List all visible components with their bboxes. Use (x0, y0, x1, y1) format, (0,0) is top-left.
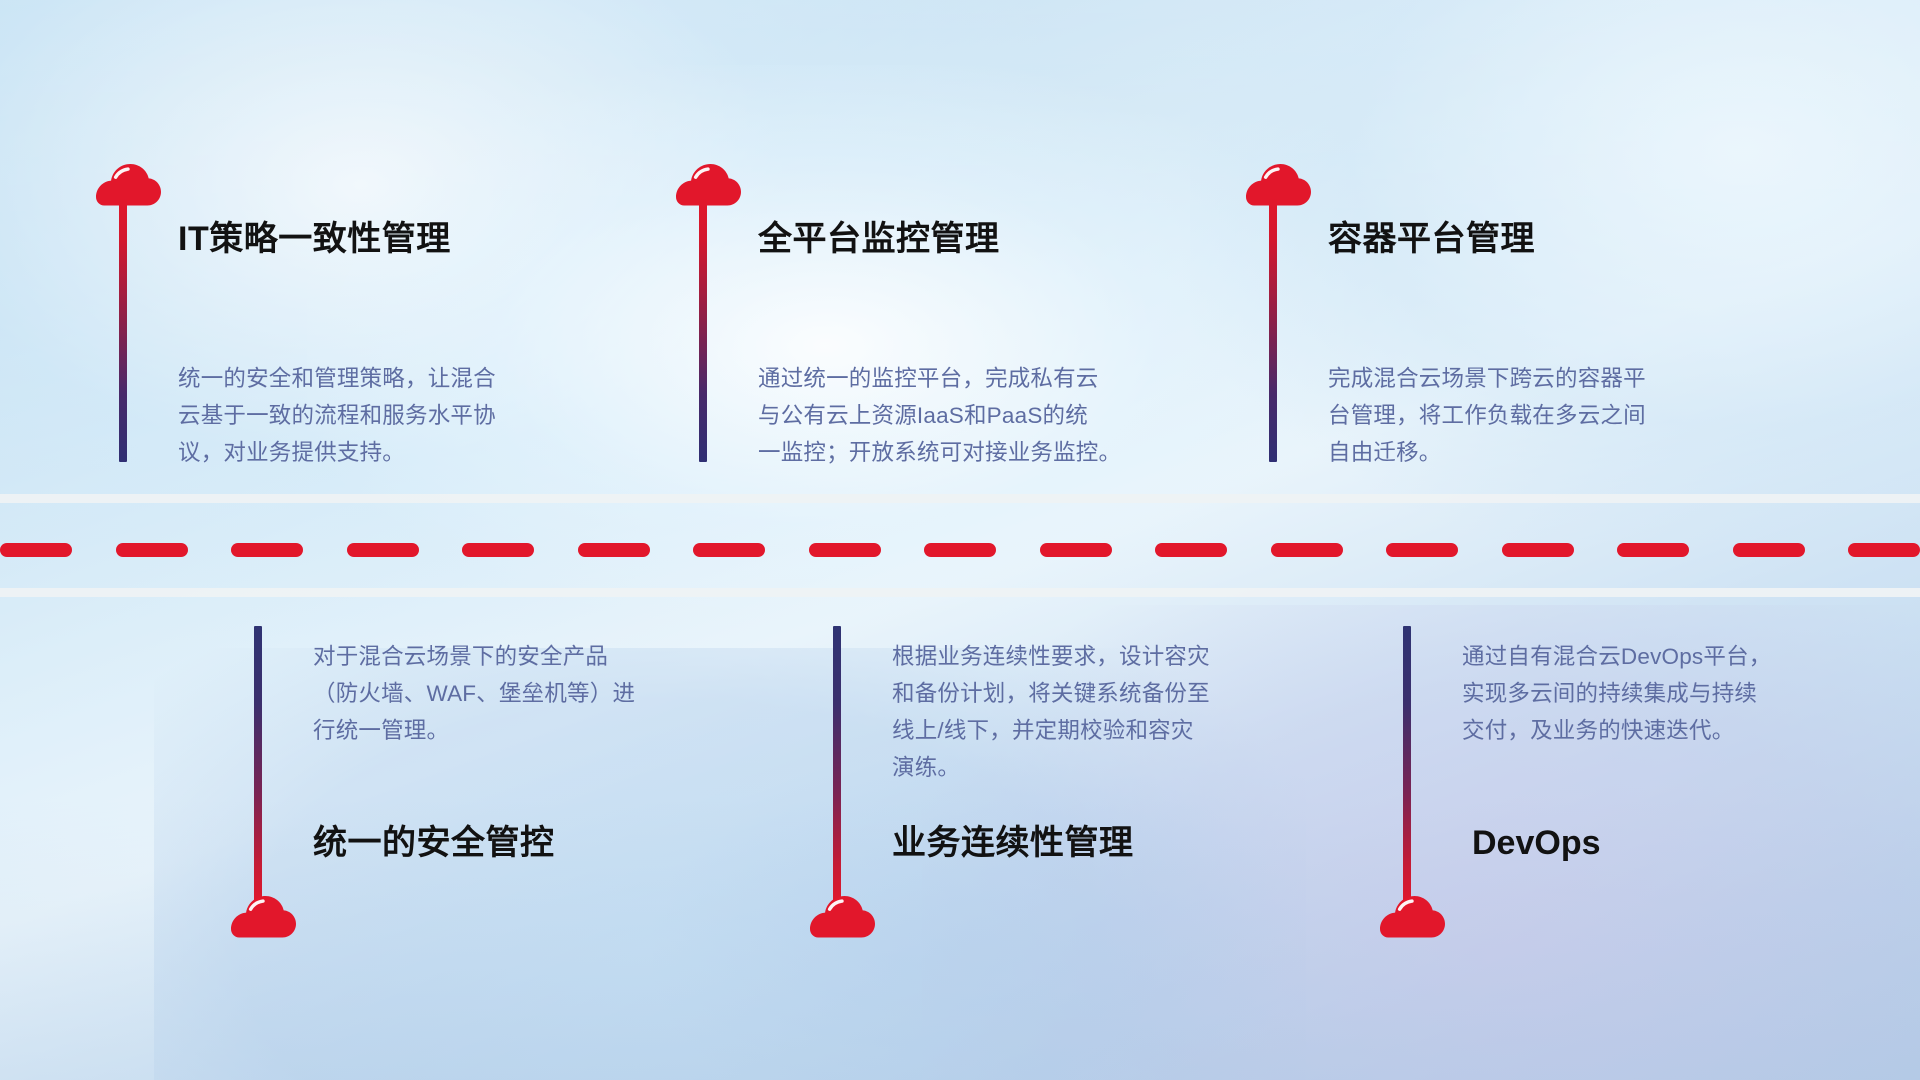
road-dash (693, 543, 765, 557)
road-dash (1848, 543, 1920, 557)
bottom-item-2-body: 根据业务连续性要求，设计容灾 和备份计划，将关键系统备份至 线上/线下，并定期校… (892, 638, 1322, 786)
road-dash (1386, 543, 1458, 557)
cloud-icon (1246, 164, 1312, 206)
road-dash (462, 543, 534, 557)
cloud-icon (96, 164, 162, 206)
connector-stem (254, 626, 262, 906)
road-dash (231, 543, 303, 557)
road-edge-line-bottom (0, 588, 1920, 597)
cloud-icon (676, 164, 742, 206)
cloud-icon (1380, 896, 1446, 938)
road-dash (578, 543, 650, 557)
top-item-1-body: 统一的安全和管理策略，让混合 云基于一致的流程和服务水平协 议，对业务提供支持。 (178, 360, 608, 471)
road-dash (924, 543, 996, 557)
road-dash (1502, 543, 1574, 557)
road-dash (0, 543, 72, 557)
road-dash (809, 543, 881, 557)
road-dash (1040, 543, 1112, 557)
cloud-icon (810, 896, 876, 938)
road-center-dashes (0, 543, 1920, 557)
top-item-3-body: 完成混合云场景下跨云的容器平 台管理，将工作负载在多云之间 自由迁移。 (1328, 360, 1758, 471)
top-item-1-title: IT策略一致性管理 (178, 222, 451, 256)
connector-stem (833, 626, 841, 906)
road-dash (1617, 543, 1689, 557)
top-item-2-body: 通过统一的监控平台，完成私有云 与公有云上资源IaaS和PaaS的统 一监控；开… (758, 360, 1218, 471)
top-item-2-title: 全平台监控管理 (758, 222, 1000, 256)
connector-stem (699, 198, 707, 462)
bottom-item-2-title: 业务连续性管理 (892, 826, 1134, 860)
road-dash (116, 543, 188, 557)
connector-stem (119, 198, 127, 462)
road-edge-line-top (0, 494, 1920, 503)
road-dash (1271, 543, 1343, 557)
top-item-3-title: 容器平台管理 (1328, 222, 1535, 256)
bottom-item-3-body: 通过自有混合云DevOps平台， 实现多云间的持续集成与持续 交付，及业务的快速… (1462, 638, 1892, 749)
cloud-icon (231, 896, 297, 938)
connector-stem (1403, 626, 1411, 906)
connector-stem (1269, 198, 1277, 462)
road-dash (347, 543, 419, 557)
road-dash (1733, 543, 1805, 557)
road-dash (1155, 543, 1227, 557)
bottom-item-1-title: 统一的安全管控 (313, 826, 555, 860)
bottom-item-3-title: DevOps (1472, 826, 1601, 860)
bottom-item-1-body: 对于混合云场景下的安全产品 （防火墙、WAF、堡垒机等）进 行统一管理。 (313, 638, 743, 749)
